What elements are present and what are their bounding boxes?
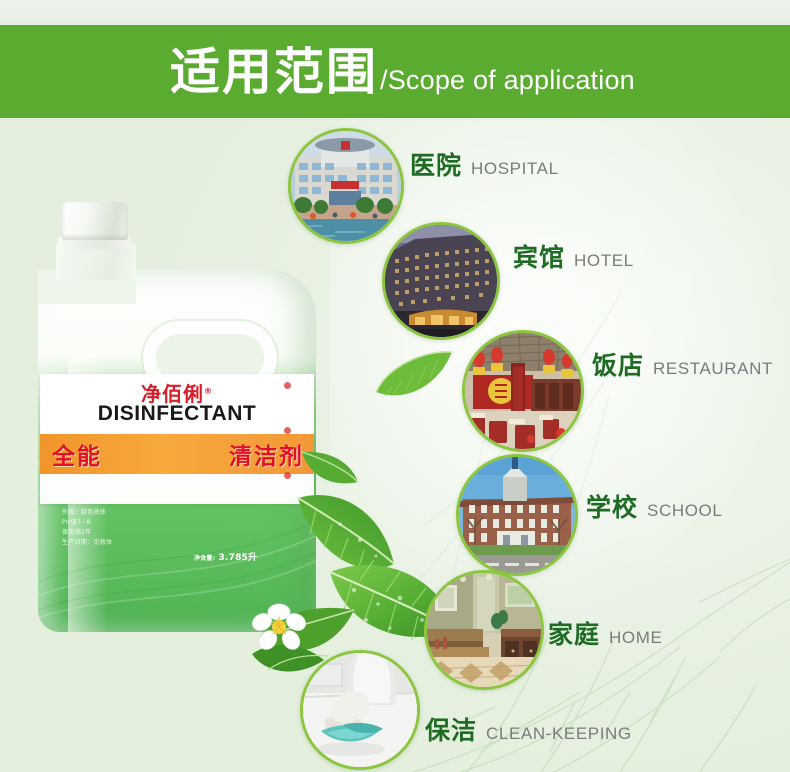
label-home: 家庭 HOME (548, 615, 662, 651)
product-bottle: 净佰俐® DISINFECTANT 全能 清洁剂 外观：绿色液体 PH值7~8 … (34, 196, 324, 646)
label-clean-keeping-en: CLEAN-KEEPING (486, 724, 632, 744)
label-school-en: SCHOOL (647, 501, 722, 521)
label-orange-band: 全能 清洁剂 (40, 434, 314, 474)
product-specs: 外观：绿色液体 PH值7~8 保质期2年 生产日期：见瓶体 (62, 508, 192, 548)
label-restaurant: 饭店 RESTAURANT (592, 346, 773, 382)
side-mark-dot (284, 427, 291, 434)
label-hospital: 医院 HOSPITAL (410, 146, 559, 182)
header-title-cn: 适用范围 (170, 47, 378, 97)
white-flower (248, 600, 310, 656)
leaf-top-right (372, 348, 456, 414)
background-top-strip (0, 0, 790, 25)
product-name-en: DISINFECTANT (40, 402, 314, 426)
section-header: 适用范围 /Scope of application (0, 25, 790, 118)
bottle-neck (56, 244, 136, 280)
label-hospital-cn: 医院 (410, 146, 462, 182)
label-school-cn: 学校 (586, 488, 638, 524)
circle-school[interactable] (456, 454, 578, 576)
hotel-photo (385, 225, 497, 337)
scope-of-application-banner: 适用范围 /Scope of application (0, 0, 790, 772)
header-title-en: /Scope of application (380, 65, 635, 96)
registered-mark: ® (204, 386, 213, 395)
label-school: 学校 SCHOOL (586, 488, 722, 524)
label-clean-keeping: 保洁 CLEAN-KEEPING (425, 711, 632, 747)
bottle-cap (62, 202, 128, 240)
side-mark-dot (284, 382, 291, 389)
home-photo (427, 573, 541, 687)
label-restaurant-en: RESTAURANT (653, 359, 773, 379)
net-content-value: 3.785升 (219, 553, 258, 563)
circle-clean-keeping[interactable] (300, 650, 420, 770)
label-home-en: HOME (609, 628, 662, 648)
label-hotel-en: HOTEL (574, 251, 634, 271)
label-hotel-cn: 宾馆 (513, 238, 565, 274)
spec-line: 外观：绿色液体 (62, 508, 192, 518)
spec-line: 生产日期：见瓶体 (62, 538, 192, 548)
spec-line: PH值7~8 (62, 518, 192, 528)
restaurant-photo (465, 333, 581, 449)
label-restaurant-cn: 饭店 (592, 346, 644, 382)
school-photo (459, 457, 575, 573)
circle-home[interactable] (424, 570, 544, 690)
bottle-label: 净佰俐® DISINFECTANT 全能 清洁剂 (40, 374, 314, 504)
label-hospital-en: HOSPITAL (471, 159, 559, 179)
side-mark-dot (284, 472, 291, 479)
product-name-cn-left: 全能 (52, 437, 102, 471)
label-clean-keeping-cn: 保洁 (425, 711, 477, 747)
spec-line: 保质期2年 (62, 528, 192, 538)
circle-hotel[interactable] (382, 222, 500, 340)
clean-keeping-photo (303, 653, 417, 767)
net-content-label: 净含量: (194, 555, 215, 562)
label-hotel: 宾馆 HOTEL (513, 238, 634, 274)
label-bottom-white (40, 474, 314, 504)
label-home-cn: 家庭 (548, 615, 600, 651)
circle-restaurant[interactable] (462, 330, 584, 452)
net-content: 净含量: 3.785升 (194, 550, 257, 563)
